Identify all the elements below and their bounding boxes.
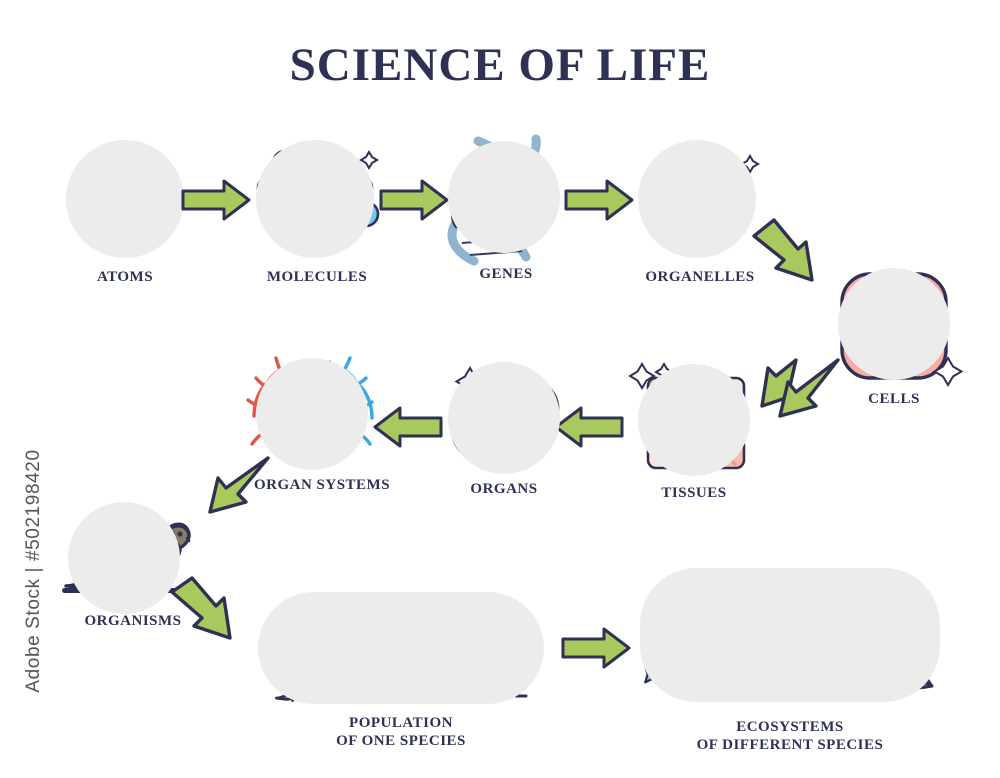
backdrop-disc [256, 358, 368, 470]
backdrop-disc [638, 140, 756, 258]
backdrop-disc [638, 364, 750, 476]
backdrop-disc [838, 268, 950, 380]
stage-organs[interactable]: ORGANS [440, 358, 566, 482]
stage-organelles[interactable]: ORGANELLES [638, 140, 762, 258]
arrow-atoms-to-molecules [180, 178, 252, 222]
stage-label-genes: GENES [434, 265, 578, 283]
stage-genes[interactable]: GENES [448, 135, 566, 263]
stage-population[interactable]: POPULATION OF ONE SPECIES [258, 592, 544, 714]
diagram-canvas: SCIENCE OF LIFE ATOMS [0, 0, 1000, 778]
stage-label-population: POPULATION OF ONE SPECIES [258, 714, 544, 751]
stage-label-tissues: TISSUES [624, 484, 764, 502]
stage-molecules[interactable]: MOLECULES [254, 140, 378, 258]
stage-atoms[interactable]: ATOMS [66, 140, 184, 258]
watermark-text: Adobe Stock | #502198420 [23, 441, 45, 701]
backdrop-disc [448, 362, 560, 474]
arrow-organelles-to-cells [748, 218, 838, 290]
population-panel-backdrop [258, 592, 544, 704]
stage-label-cells: CELLS [826, 390, 962, 408]
stage-label-atoms: ATOMS [54, 268, 196, 286]
stage-label-molecules: MOLECULES [232, 268, 402, 286]
stage-label-ecosystems: ECOSYSTEMS OF DIFFERENT SPECIES [630, 718, 950, 755]
stage-ecosystems[interactable]: ECOSYSTEMS OF DIFFERENT SPECIES [640, 568, 940, 714]
stage-label-organs: ORGANS [434, 480, 574, 498]
arrow-molecules-to-genes [378, 178, 450, 222]
backdrop-disc [66, 140, 184, 258]
page-title: SCIENCE OF LIFE [0, 38, 1000, 92]
backdrop-disc [68, 502, 180, 614]
ecosystem-panel-backdrop [640, 568, 940, 702]
arrow-organs-to-organ-systems [372, 405, 444, 449]
arrow-cells-to-tissues [752, 352, 842, 424]
arrow-population-to-ecosystems [560, 626, 632, 670]
arrow-organisms-to-population [166, 578, 266, 650]
arrow-genes-to-organelles [563, 178, 635, 222]
stage-tissues[interactable]: TISSUES [630, 364, 756, 482]
stage-cells[interactable]: CELLS [834, 268, 956, 386]
backdrop-disc [448, 141, 560, 253]
backdrop-disc [256, 140, 374, 258]
